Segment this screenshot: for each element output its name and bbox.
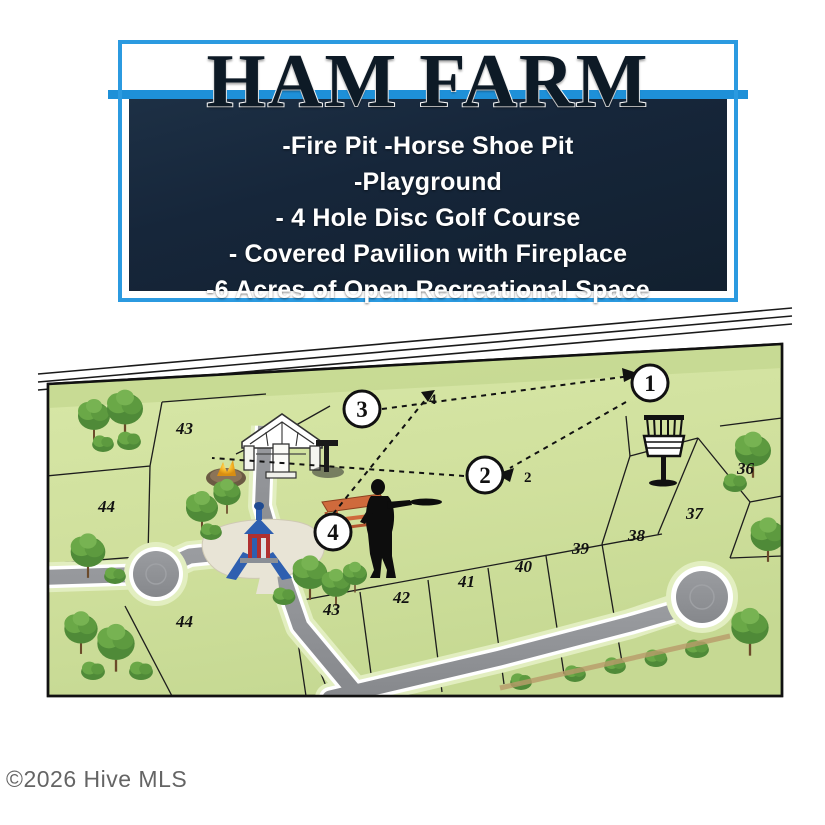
lot-label: 37 <box>685 504 705 523</box>
mls-watermark: ©2026 Hive MLS <box>6 766 187 793</box>
lot-label: 44 <box>175 612 193 631</box>
hole-marker-label: 3 <box>356 397 368 422</box>
lot-label: 42 <box>392 588 411 607</box>
feature-item-disc-golf: - 4 Hole Disc Golf Course <box>118 200 738 236</box>
page-title: HAM FARM <box>118 36 738 126</box>
property-banner: HAM FARM -Fire Pit -Horse Shoe Pit -Play… <box>118 40 738 302</box>
feature-item-playground: -Playground <box>118 164 738 200</box>
lot-label: 38 <box>627 526 646 545</box>
hole-marker-2[interactable]: 2 <box>467 457 503 493</box>
lot-label: 44 <box>97 497 115 516</box>
lot-label: 39 <box>571 539 590 558</box>
hole-marker-4[interactable]: 4 <box>315 514 351 550</box>
feature-item-pavilion: - Covered Pavilion with Fireplace <box>118 236 738 272</box>
hole-marker-label: 1 <box>644 371 656 396</box>
lot-label: 36 <box>736 459 755 478</box>
site-map: 43 44 44 43 42 41 40 39 38 37 36 4 2 1 2 <box>30 306 800 716</box>
feature-item-open-space: -6 Acres of Open Recreational Space <box>118 272 738 308</box>
feature-list: -Fire Pit -Horse Shoe Pit -Playground - … <box>118 128 738 308</box>
feature-item-fire-pit: -Fire Pit -Horse Shoe Pit <box>118 128 738 164</box>
hole-marker-label: 2 <box>479 463 491 488</box>
lot-label: 40 <box>514 557 533 576</box>
hole-marker-label: 4 <box>327 520 339 545</box>
lot-label: 43 <box>175 419 194 438</box>
direction-label-2: 2 <box>524 470 532 486</box>
hole-marker-1[interactable]: 1 <box>632 365 668 401</box>
hole-marker-3[interactable]: 3 <box>344 391 380 427</box>
direction-label-4: 4 <box>429 392 437 408</box>
lot-label: 43 <box>322 600 341 619</box>
lot-label: 41 <box>457 572 475 591</box>
